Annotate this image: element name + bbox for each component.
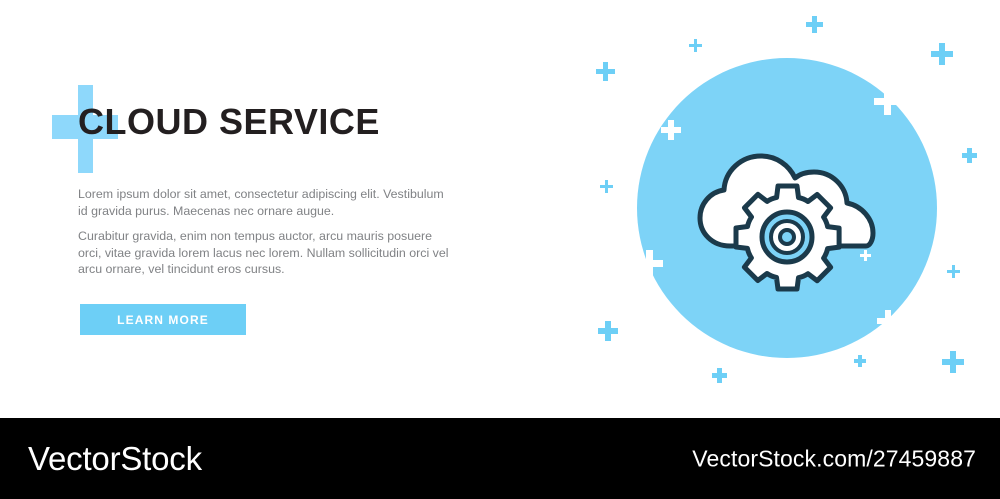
gear-center-dot bbox=[780, 230, 794, 244]
decorative-plus-icon bbox=[877, 310, 899, 332]
decorative-plus-icon bbox=[947, 265, 960, 278]
gear-shape bbox=[736, 186, 839, 289]
decorative-plus-icon bbox=[636, 250, 663, 277]
decorative-plus-icon bbox=[962, 148, 977, 163]
body-paragraph-2: Curabitur gravida, enim non tempus aucto… bbox=[78, 228, 453, 278]
page-title: CLOUD SERVICE bbox=[78, 104, 380, 140]
decorative-plus-icon bbox=[600, 180, 613, 193]
decorative-plus-icon bbox=[874, 88, 901, 115]
decorative-plus-icon bbox=[942, 351, 964, 373]
decorative-plus-icon bbox=[689, 39, 702, 52]
image-credit-url: VectorStock.com/27459887 bbox=[692, 445, 976, 472]
cloud-gear-icon bbox=[690, 135, 885, 295]
decorative-plus-icon bbox=[806, 16, 823, 33]
banner-artwork: CLOUD SERVICE Lorem ipsum dolor sit amet… bbox=[0, 0, 1000, 418]
decorative-plus-icon bbox=[598, 321, 618, 341]
footer-bar: VectorStock VectorStock.com/27459887 bbox=[0, 418, 1000, 499]
decorative-plus-icon bbox=[661, 120, 681, 140]
learn-more-button[interactable]: LEARN MORE bbox=[80, 304, 246, 335]
brand-wordmark: VectorStock bbox=[28, 440, 202, 478]
decorative-plus-icon bbox=[712, 368, 727, 383]
decorative-plus-icon bbox=[596, 62, 615, 81]
banner-screenshot: CLOUD SERVICE Lorem ipsum dolor sit amet… bbox=[0, 0, 1000, 499]
learn-more-button-label: LEARN MORE bbox=[117, 313, 209, 327]
decorative-plus-icon bbox=[931, 43, 953, 65]
decorative-plus-icon bbox=[854, 355, 866, 367]
body-paragraph-1: Lorem ipsum dolor sit amet, consectetur … bbox=[78, 186, 453, 219]
